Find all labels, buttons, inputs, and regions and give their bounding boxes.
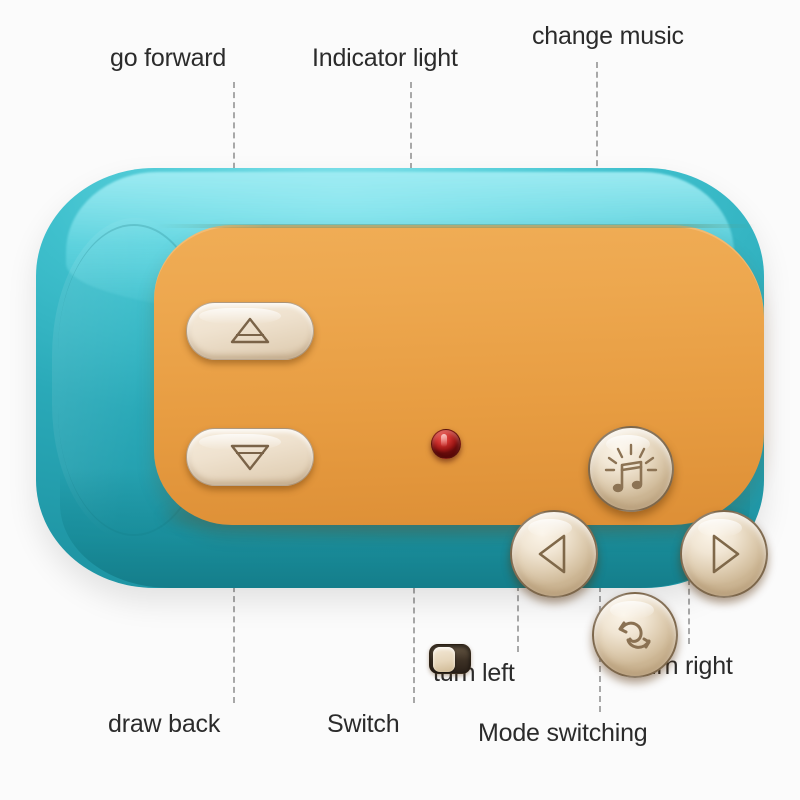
remote-control-device <box>36 168 764 588</box>
s-curve-arrows-icon <box>610 613 660 657</box>
music-button[interactable] <box>588 426 674 512</box>
diagram-canvas: go forward Indicator light change music … <box>0 0 800 800</box>
mode-button[interactable] <box>592 592 678 678</box>
right-arrow-button[interactable] <box>680 510 768 598</box>
callout-label-mode-switching: Mode switching <box>478 719 648 748</box>
left-arrow-button[interactable] <box>510 510 598 598</box>
music-note-icon <box>603 443 659 495</box>
up-arrow-button[interactable] <box>186 302 314 360</box>
triangle-left-icon <box>534 532 574 576</box>
led-indicator <box>431 429 461 459</box>
down-arrow-button[interactable] <box>186 428 314 486</box>
triangle-right-icon <box>704 532 744 576</box>
triangle-down-icon <box>227 441 273 473</box>
callout-label-change-music: change music <box>532 22 684 51</box>
callout-label-go-forward: go forward <box>110 44 226 73</box>
power-switch-knob[interactable] <box>433 647 455 672</box>
power-switch[interactable] <box>429 644 471 674</box>
callout-label-switch: Switch <box>327 710 399 739</box>
callout-label-indicator-light: Indicator light <box>312 44 458 73</box>
triangle-up-icon <box>227 315 273 347</box>
faceplate-top-seam <box>156 224 756 228</box>
callout-label-draw-back: draw back <box>108 710 220 739</box>
